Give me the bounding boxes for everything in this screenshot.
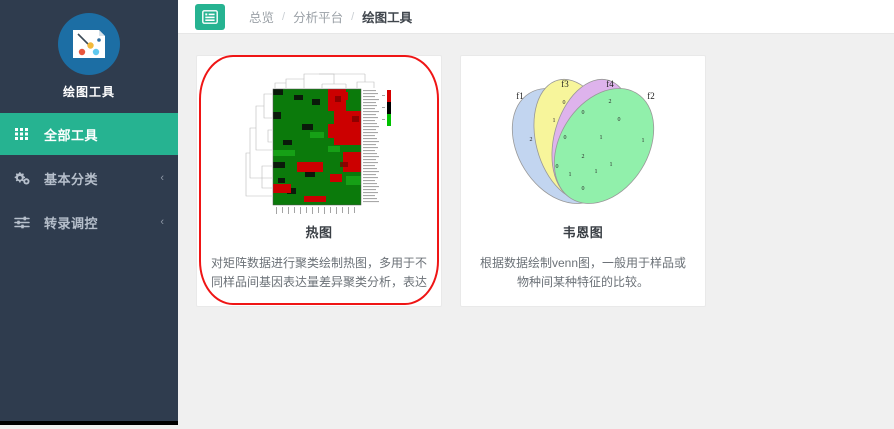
sidebar-item-label: 全部工具 (44, 125, 98, 144)
card-description: 根据数据绘制venn图，一般用于样品或物种间某种特征的比较。 (471, 254, 695, 292)
svg-text:0: 0 (618, 117, 621, 123)
grid-icon (0, 128, 44, 140)
list-menu-icon[interactable] (195, 4, 225, 30)
gears-icon (0, 171, 44, 185)
svg-text:0: 0 (564, 135, 567, 141)
brand-name: 绘图工具 (63, 83, 115, 100)
breadcrumb-item-drawing-tools: 绘图工具 (362, 7, 412, 26)
svg-text:1: 1 (569, 172, 572, 178)
sidebar-footer-strip (0, 421, 178, 425)
svg-text:1: 1 (600, 135, 603, 141)
sidebar-item-label: 转录调控 (44, 213, 98, 232)
card-description: 对矩阵数据进行聚类绘制热图，多用于不同样品间基因表达量差异聚类分析，表达 (207, 254, 431, 292)
heatmap-figure (242, 66, 397, 216)
breadcrumb-item-overview[interactable]: 总览 (249, 7, 274, 26)
tool-card-venn[interactable]: f1 f3 f4 f2 2 0 2 1 1 0 0 (460, 55, 706, 307)
palette-icon (58, 13, 120, 75)
main-content: 热图 对矩阵数据进行聚类绘制热图，多用于不同样品间基因表达量差异聚类分析，表达 (178, 34, 894, 429)
svg-text:0: 0 (563, 100, 566, 106)
venn-set-label-f1: f1 (516, 91, 524, 101)
app-root: 绘图工具 全部工具 (0, 0, 894, 429)
tool-card-grid: 热图 对矩阵数据进行聚类绘制热图，多用于不同样品间基因表达量差异聚类分析，表达 (196, 55, 706, 307)
venn-set-label-f4: f4 (606, 79, 614, 89)
chevron-left-icon[interactable]: ‹ (160, 201, 164, 243)
breadcrumb-separator: / (282, 11, 285, 23)
card-title: 热图 (207, 222, 431, 241)
svg-text:2: 2 (609, 99, 612, 105)
breadcrumb-separator: / (351, 11, 354, 23)
venn-thumbnail: f1 f3 f4 f2 2 0 2 1 1 0 0 (471, 66, 695, 216)
sidebar-item-basic-category[interactable]: 基本分类 ‹ (0, 157, 178, 199)
tool-card-heatmap[interactable]: 热图 对矩阵数据进行聚类绘制热图，多用于不同样品间基因表达量差异聚类分析，表达 (196, 55, 442, 307)
venn-set-label-f2: f2 (647, 91, 655, 101)
svg-text:2: 2 (582, 154, 585, 160)
sidebar-item-all-tools[interactable]: 全部工具 (0, 113, 178, 155)
heatmap-thumbnail (207, 66, 431, 216)
venn-set-label-f3: f3 (561, 79, 569, 89)
svg-text:0: 0 (582, 110, 585, 116)
sidebar-item-transcription-regulation[interactable]: 转录调控 ‹ (0, 201, 178, 243)
svg-text:1: 1 (595, 169, 598, 175)
breadcrumb: 总览 / 分析平台 / 绘图工具 (249, 7, 412, 26)
sliders-icon (0, 216, 44, 229)
breadcrumb-item-analysis-platform[interactable]: 分析平台 (293, 7, 343, 26)
svg-text:1: 1 (610, 162, 613, 168)
svg-text:2: 2 (530, 137, 533, 143)
sidebar-item-label: 基本分类 (44, 169, 98, 188)
svg-text:1: 1 (553, 118, 556, 124)
card-title: 韦恩图 (471, 222, 695, 241)
brand-block: 绘图工具 (0, 0, 178, 113)
sidebar: 绘图工具 全部工具 (0, 0, 178, 425)
chevron-left-icon[interactable]: ‹ (160, 157, 164, 199)
venn-figure: f1 f3 f4 f2 2 0 2 1 1 0 0 (488, 70, 678, 212)
palette-glyph (69, 25, 109, 63)
svg-text:0: 0 (556, 164, 559, 170)
svg-text:0: 0 (582, 186, 585, 192)
svg-text:1: 1 (642, 138, 645, 144)
top-header: 总览 / 分析平台 / 绘图工具 (178, 0, 894, 34)
